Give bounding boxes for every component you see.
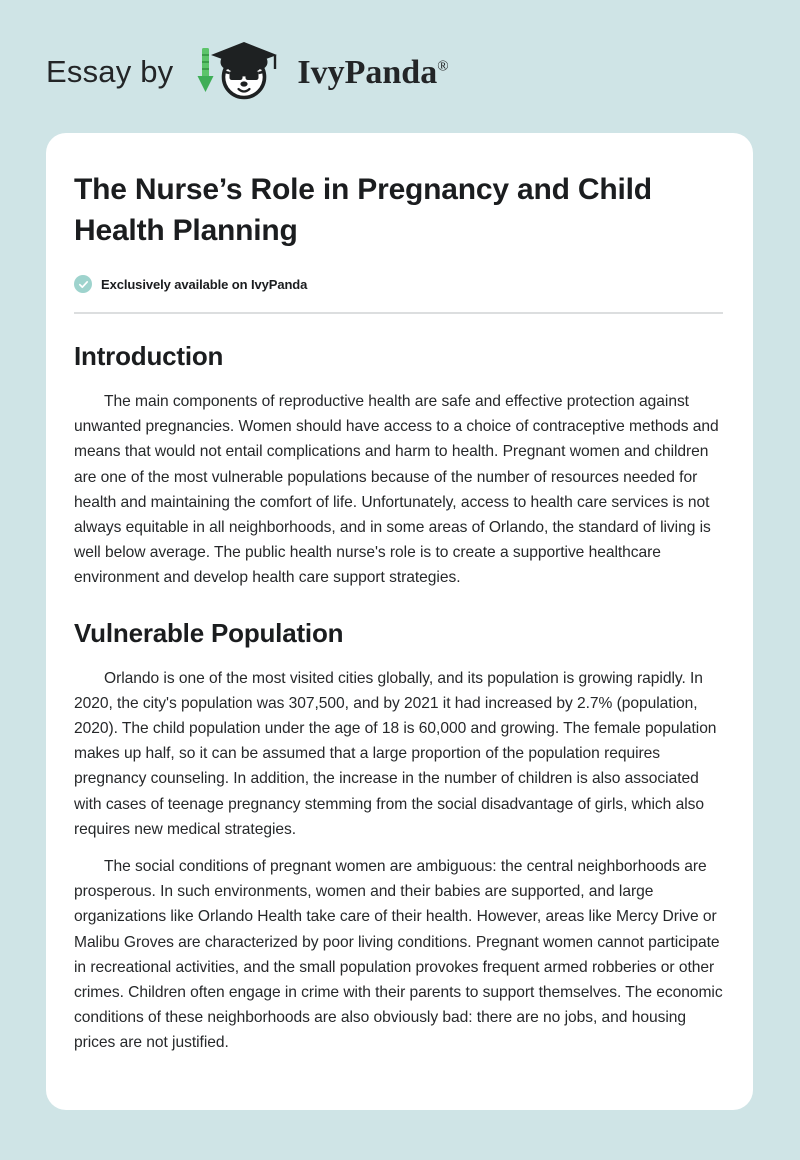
paragraph: The main components of reproductive heal… bbox=[74, 389, 723, 591]
essay-page: Essay by bbox=[0, 0, 800, 1160]
header-divider bbox=[74, 312, 723, 314]
section-introduction: Introduction The main components of repr… bbox=[74, 340, 723, 591]
bamboo-leaf-icon bbox=[198, 48, 214, 92]
essay-by-label: Essay by bbox=[46, 56, 173, 87]
essay-card: The Nurse’s Role in Pregnancy and Child … bbox=[46, 133, 753, 1110]
page-title: The Nurse’s Role in Pregnancy and Child … bbox=[74, 169, 674, 251]
paragraph: The social conditions of pregnant women … bbox=[74, 854, 723, 1056]
ivypanda-wordmark-text: IvyPanda bbox=[297, 54, 437, 91]
section-heading: Introduction bbox=[74, 340, 723, 372]
check-circle-icon bbox=[74, 275, 92, 293]
paragraph: Orlando is one of the most visited citie… bbox=[74, 666, 723, 842]
brand-header: Essay by bbox=[46, 40, 449, 102]
graduation-cap-icon bbox=[211, 42, 277, 75]
status-badge-label: Exclusively available on IvyPanda bbox=[101, 277, 307, 292]
section-vulnerable-population: Vulnerable Population Orlando is one of … bbox=[74, 617, 723, 1056]
registered-trademark-icon: ® bbox=[437, 59, 448, 75]
status-badge: Exclusively available on IvyPanda bbox=[74, 275, 723, 293]
ivypanda-wordmark: IvyPanda® bbox=[297, 56, 448, 90]
section-heading: Vulnerable Population bbox=[74, 617, 723, 649]
panda-graduate-icon bbox=[187, 40, 283, 102]
